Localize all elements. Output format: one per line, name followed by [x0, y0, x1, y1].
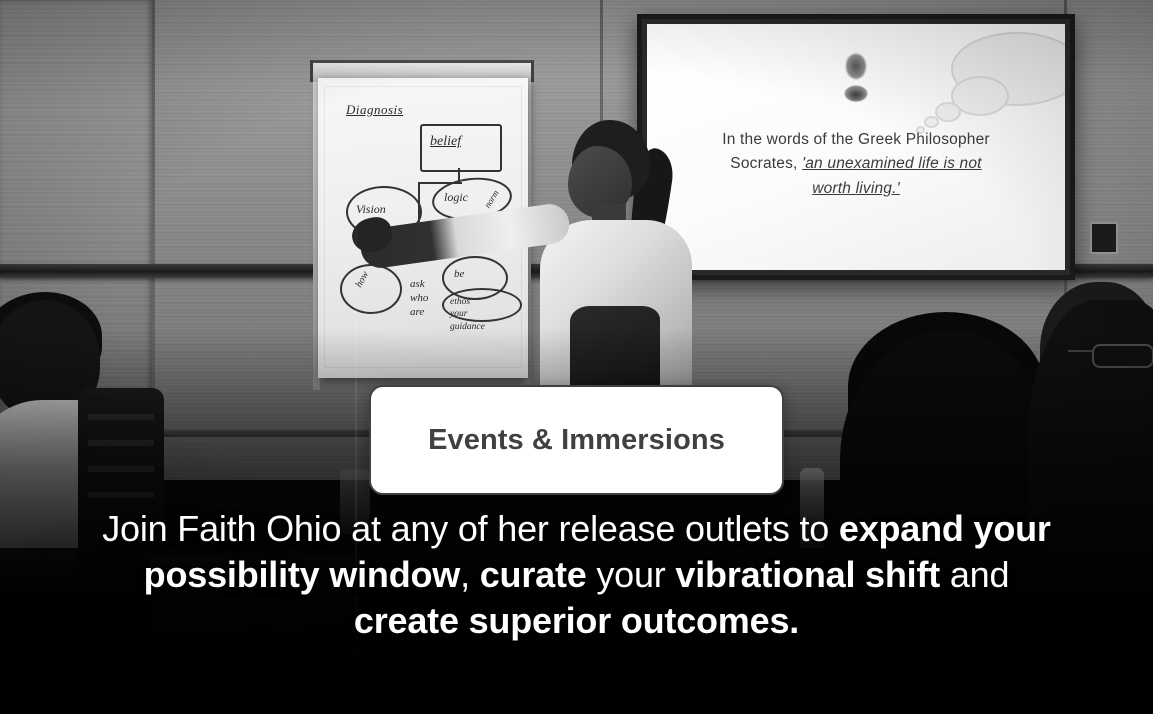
bottom-black-band: [0, 692, 1153, 714]
caption-text: Join Faith Ohio at any of her release ou…: [102, 508, 839, 549]
caption-emphasis: curate: [480, 554, 587, 595]
flipchart-note-belief: belief: [430, 134, 461, 150]
flipchart-connector: [418, 182, 462, 184]
slide-quote-line-1: 'an unexamined life is not: [802, 155, 982, 172]
slide-intro-line-1: In the words of the Greek Philosopher: [722, 131, 990, 148]
flipchart-oval: [340, 264, 402, 314]
slide-quote-line-2: worth living.': [812, 180, 900, 197]
flipchart-note-ethos: ethos your guidance: [450, 296, 485, 333]
hero-caption-line-2: possibility window, curate your vibratio…: [96, 552, 1057, 598]
caption-text: ,: [460, 554, 480, 595]
hero-caption: Join Faith Ohio at any of her release ou…: [96, 506, 1057, 644]
wall-socket: [1090, 222, 1118, 254]
events-and-immersions-button-label: Events & Immersions: [428, 424, 725, 457]
flipchart-note-vision: Vision: [356, 202, 386, 217]
hero-banner: In the words of the Greek Philosopher So…: [0, 0, 1153, 714]
caption-emphasis: vibrational shift: [675, 554, 940, 595]
thought-bubble-icon: [924, 116, 939, 128]
caption-text: your: [587, 554, 676, 595]
socrates-bust-icon: [834, 44, 878, 106]
hero-caption-line-1: Join Faith Ohio at any of her release ou…: [96, 506, 1057, 552]
caption-emphasis: expand your: [839, 508, 1051, 549]
caption-emphasis: create superior outcomes.: [354, 600, 799, 641]
flipchart-connector: [418, 182, 420, 222]
caption-text: and: [940, 554, 1009, 595]
flipchart-note-ask: ask who are: [410, 278, 428, 319]
events-and-immersions-button[interactable]: Events & Immersions: [369, 385, 784, 495]
thought-bubble-icon: [935, 102, 961, 122]
caption-emphasis: possibility window: [144, 554, 460, 595]
flipchart-note-be: be: [454, 268, 464, 280]
hero-caption-line-3: create superior outcomes.: [96, 598, 1057, 644]
presenter-figure: [520, 120, 760, 420]
eyeglasses-icon: [1092, 344, 1153, 368]
flipchart-note-logic: logic: [444, 190, 468, 205]
